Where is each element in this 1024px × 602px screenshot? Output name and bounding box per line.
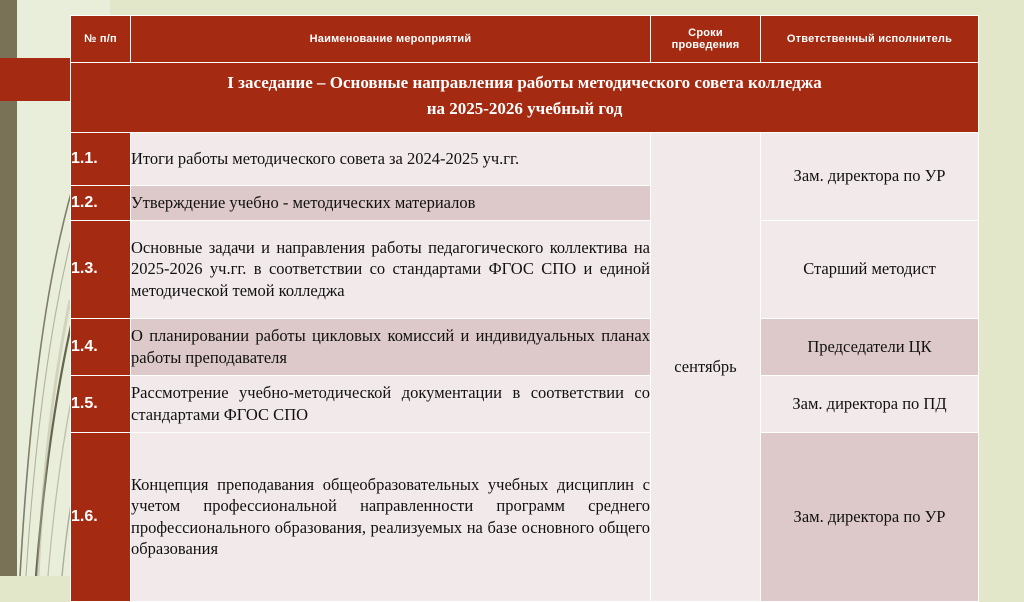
section-title-cell: I заседание – Основные направления работ…	[71, 63, 979, 133]
row-number-1-3: 1.3.	[71, 220, 131, 318]
row-activity-1-5: Рассмотрение учебно-методической докумен…	[131, 375, 651, 432]
column-header-number: № п/п	[71, 16, 131, 63]
meeting-plan-table-wrapper: № п/п Наименование мероприятий Сроки про…	[70, 15, 978, 602]
table-row: 1.5. Рассмотрение учебно-методической до…	[71, 375, 979, 432]
row-activity-1-3: Основные задачи и направления работы пед…	[131, 220, 651, 318]
period-cell: сентябрь	[651, 132, 761, 601]
row-number-1-4: 1.4.	[71, 318, 131, 375]
table-row: 1.1. Итоги работы методического совета з…	[71, 132, 979, 185]
row-responsible-1-3: Старший методист	[761, 220, 979, 318]
meeting-plan-table: № п/п Наименование мероприятий Сроки про…	[70, 15, 979, 602]
column-header-activity-name: Наименование мероприятий	[131, 16, 651, 63]
row-number-1-2: 1.2.	[71, 185, 131, 220]
row-responsible-1-4: Председатели ЦК	[761, 318, 979, 375]
table-row: 1.3. Основные задачи и направления работ…	[71, 220, 979, 318]
section-title-line-1: I заседание – Основные направления работ…	[81, 70, 968, 96]
row-number-1-5: 1.5.	[71, 375, 131, 432]
column-header-dates: Сроки проведения	[651, 16, 761, 63]
row-activity-1-1: Итоги работы методического совета за 202…	[131, 132, 651, 185]
table-row: 1.4. О планировании работы цикловых коми…	[71, 318, 979, 375]
row-responsible-1-1: Зам. директора по УР	[761, 132, 979, 220]
table-header-row: № п/п Наименование мероприятий Сроки про…	[71, 16, 979, 63]
section-title-line-2: на 2025-2026 учебный год	[81, 96, 968, 122]
row-activity-1-4: О планировании работы цикловых комиссий …	[131, 318, 651, 375]
row-responsible-1-5: Зам. директора по ПД	[761, 375, 979, 432]
section-title-row: I заседание – Основные направления работ…	[71, 63, 979, 133]
row-activity-1-2: Утверждение учебно - методических матери…	[131, 185, 651, 220]
column-header-responsible: Ответственный исполнитель	[761, 16, 979, 63]
row-number-1-1: 1.1.	[71, 132, 131, 185]
red-accent-block	[0, 58, 70, 101]
